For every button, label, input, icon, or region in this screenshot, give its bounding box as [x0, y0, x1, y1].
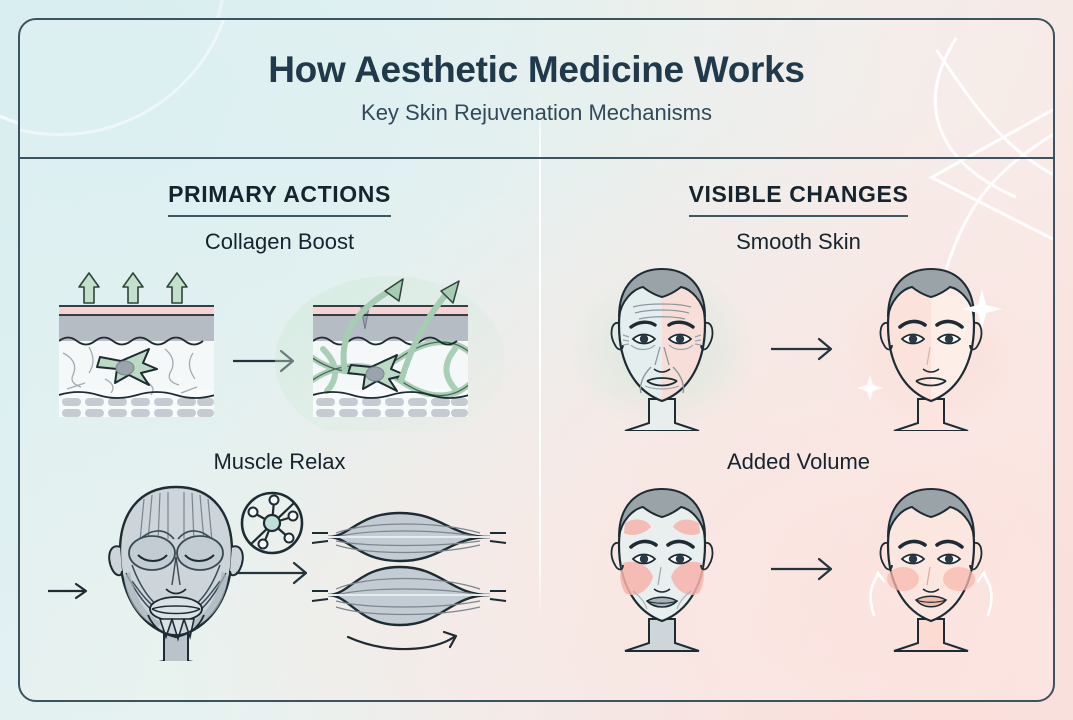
page-title: How Aesthetic Medicine Works	[268, 51, 804, 90]
collagen-boost-visual	[20, 261, 539, 431]
block-muscle-relax: Muscle Relax	[20, 449, 539, 661]
arrow-right-icon	[771, 339, 831, 359]
block-added-volume: Added Volume	[539, 449, 1055, 661]
smooth-skin-visual	[539, 261, 1055, 431]
column-heading-visible: VISIBLE CHANGES	[539, 159, 1055, 217]
muscle-relax-visual	[20, 481, 539, 661]
subcutaneous-fat-layer	[313, 397, 468, 417]
relaxed-muscle-fibers	[312, 513, 506, 649]
column-primary-actions: PRIMARY ACTIONS Collagen Boost	[20, 159, 539, 702]
subcutaneous-fat-layer	[59, 397, 214, 417]
neurotoxin-molecule-icon	[242, 493, 302, 553]
arrow-right-icon	[236, 563, 306, 583]
header: How Aesthetic Medicine Works Key Skin Re…	[20, 20, 1053, 159]
block-smooth-skin: Smooth Skin	[539, 229, 1055, 431]
block-label: Muscle Relax	[20, 449, 539, 475]
block-label: Collagen Boost	[20, 229, 539, 255]
column-heading-label: PRIMARY ACTIONS	[168, 181, 391, 217]
skin-diagram-after	[311, 305, 475, 417]
page-subtitle: Key Skin Rejuvenation Mechanisms	[361, 100, 712, 126]
molecule-core	[264, 515, 280, 531]
column-visible-changes: VISIBLE CHANGES Smooth Skin	[539, 159, 1055, 702]
skin-diagram-before	[59, 305, 215, 417]
face-restored-volume	[870, 489, 991, 651]
facial-muscle-anatomy	[109, 487, 243, 661]
orbicularis-oculi-left	[129, 536, 175, 570]
infographic-canvas: How Aesthetic Medicine Works Key Skin Re…	[0, 0, 1073, 720]
block-label: Smooth Skin	[539, 229, 1055, 255]
block-label: Added Volume	[539, 449, 1055, 475]
orbicularis-oculi-right	[177, 536, 223, 570]
collagen-stimulation-arrows	[79, 273, 187, 303]
relaxation-arrow-icon	[348, 632, 456, 649]
block-collagen-boost: Collagen Boost	[20, 229, 539, 431]
face-volume-loss-zones	[611, 489, 712, 651]
arrow-right-icon	[771, 559, 831, 579]
column-divider	[539, 90, 541, 620]
infographic-card: How Aesthetic Medicine Works Key Skin Re…	[18, 18, 1055, 702]
column-heading-primary: PRIMARY ACTIONS	[20, 159, 539, 217]
arrow-right-icon	[48, 584, 86, 598]
mentalis-muscle	[160, 619, 194, 639]
orbicularis-oris	[150, 597, 202, 621]
column-heading-label: VISIBLE CHANGES	[689, 181, 909, 217]
added-volume-visual	[539, 481, 1055, 661]
